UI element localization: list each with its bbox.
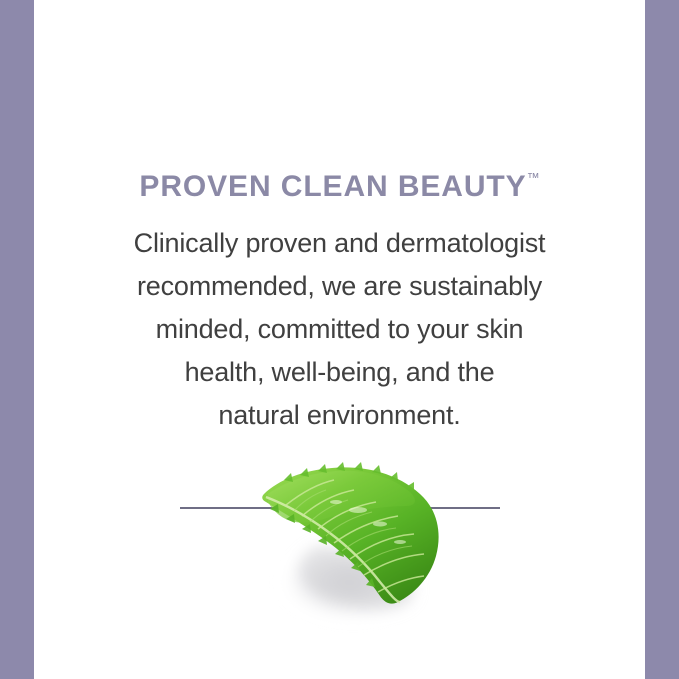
page-title: PROVEN CLEAN BEAUTY™: [34, 172, 645, 202]
page-title-text: PROVEN CLEAN BEAUTY: [139, 170, 526, 203]
body-line-5: natural environment.: [60, 394, 619, 437]
body-paragraph: Clinically proven and dermatologist reco…: [60, 222, 619, 437]
green-leaf-icon: [240, 450, 470, 640]
card-content: PROVEN CLEAN BEAUTY™ Clinically proven a…: [34, 0, 645, 679]
promo-card: PROVEN CLEAN BEAUTY™ Clinically proven a…: [0, 0, 679, 679]
trademark-symbol: ™: [527, 170, 540, 185]
body-line-1: Clinically proven and dermatologist: [60, 222, 619, 265]
leaf-graphic: [240, 450, 470, 640]
body-line-2: recommended, we are sustainably: [60, 265, 619, 308]
left-purple-band: [0, 0, 34, 679]
body-line-4: health, well-being, and the: [60, 351, 619, 394]
right-purple-band: [645, 0, 679, 679]
body-line-3: minded, committed to your skin: [60, 308, 619, 351]
